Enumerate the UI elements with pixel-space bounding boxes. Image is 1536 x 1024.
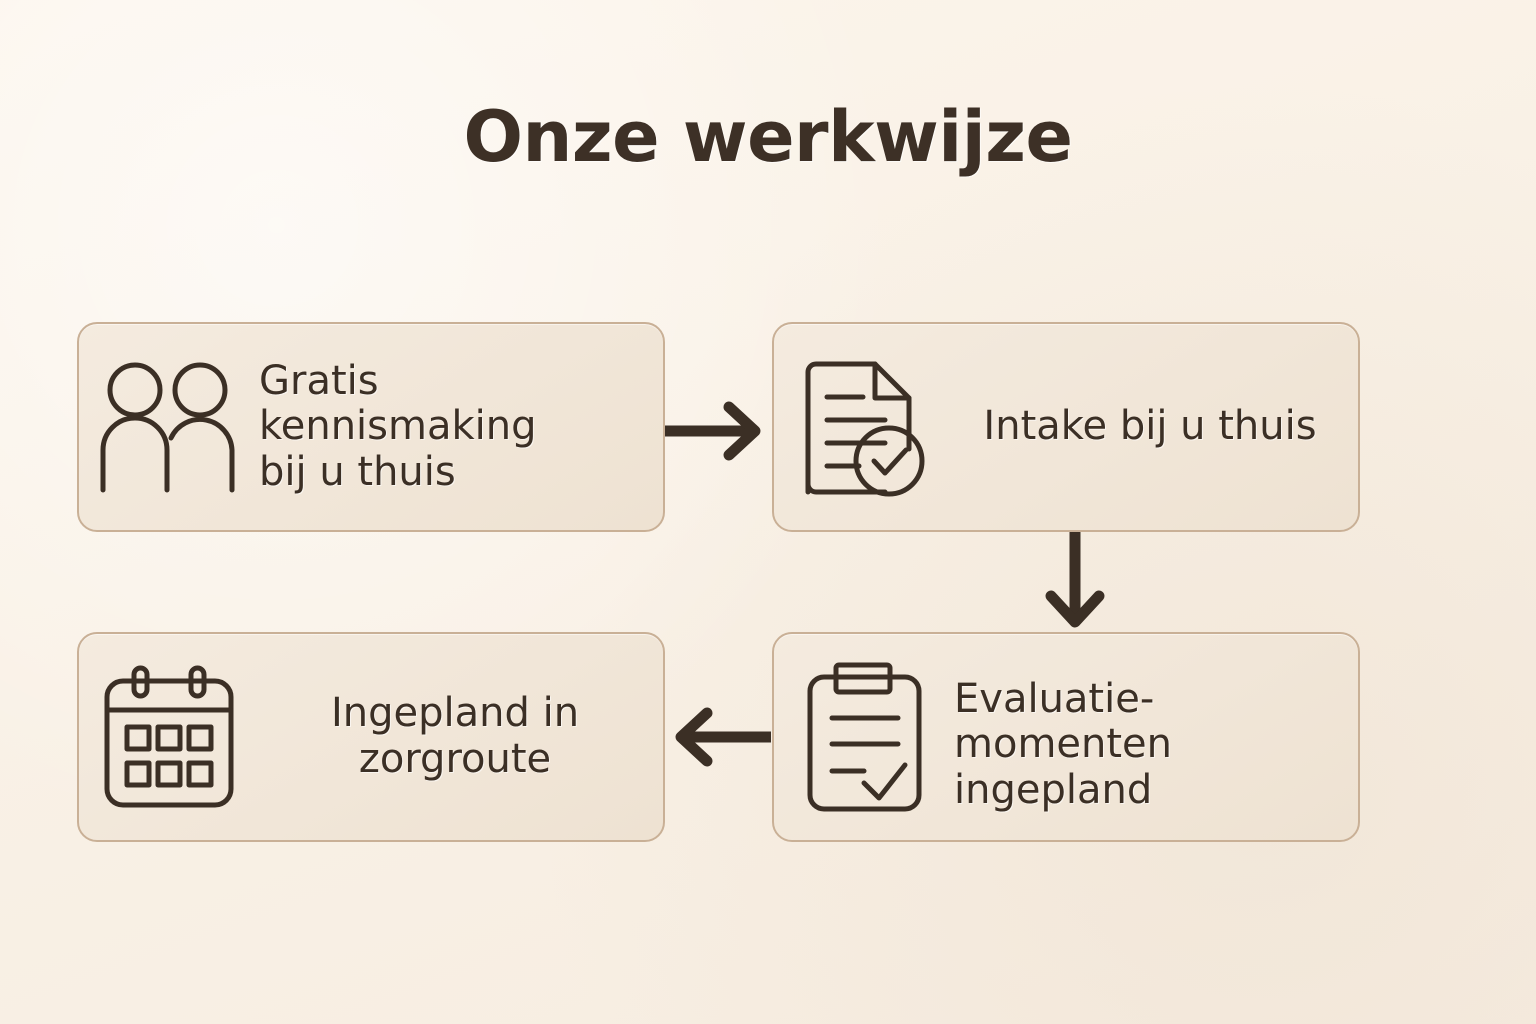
step-card-label: Intake bij u thuis xyxy=(954,404,1358,450)
arrow-left-icon xyxy=(673,706,773,768)
step-card-evaluatiemomenten-ingepland[interactable]: Evaluatie- momenten ingepland xyxy=(772,632,1360,842)
calendar-icon xyxy=(79,665,259,810)
step-card-label: Gratis kennismaking bij u thuis xyxy=(259,359,663,496)
step-card-label: Ingepland in zorgroute xyxy=(259,691,663,782)
workflow-diagram: Onze werkwijze Gratis kennismaking bij u… xyxy=(0,0,1536,1024)
arrow-down-icon xyxy=(1044,530,1106,632)
document-check-icon xyxy=(774,357,954,497)
two-people-icon xyxy=(79,362,259,492)
arrow-right-icon xyxy=(663,400,763,462)
clipboard-check-icon xyxy=(774,661,954,813)
step-card-gratis-kennismaking[interactable]: Gratis kennismaking bij u thuis xyxy=(77,322,665,532)
step-card-intake-bij-u-thuis[interactable]: Intake bij u thuis xyxy=(772,322,1360,532)
page-title: Onze werkwijze xyxy=(0,96,1536,178)
step-card-ingepland-in-zorgroute[interactable]: Ingepland in zorgroute xyxy=(77,632,665,842)
step-card-label: Evaluatie- momenten ingepland xyxy=(954,677,1358,814)
